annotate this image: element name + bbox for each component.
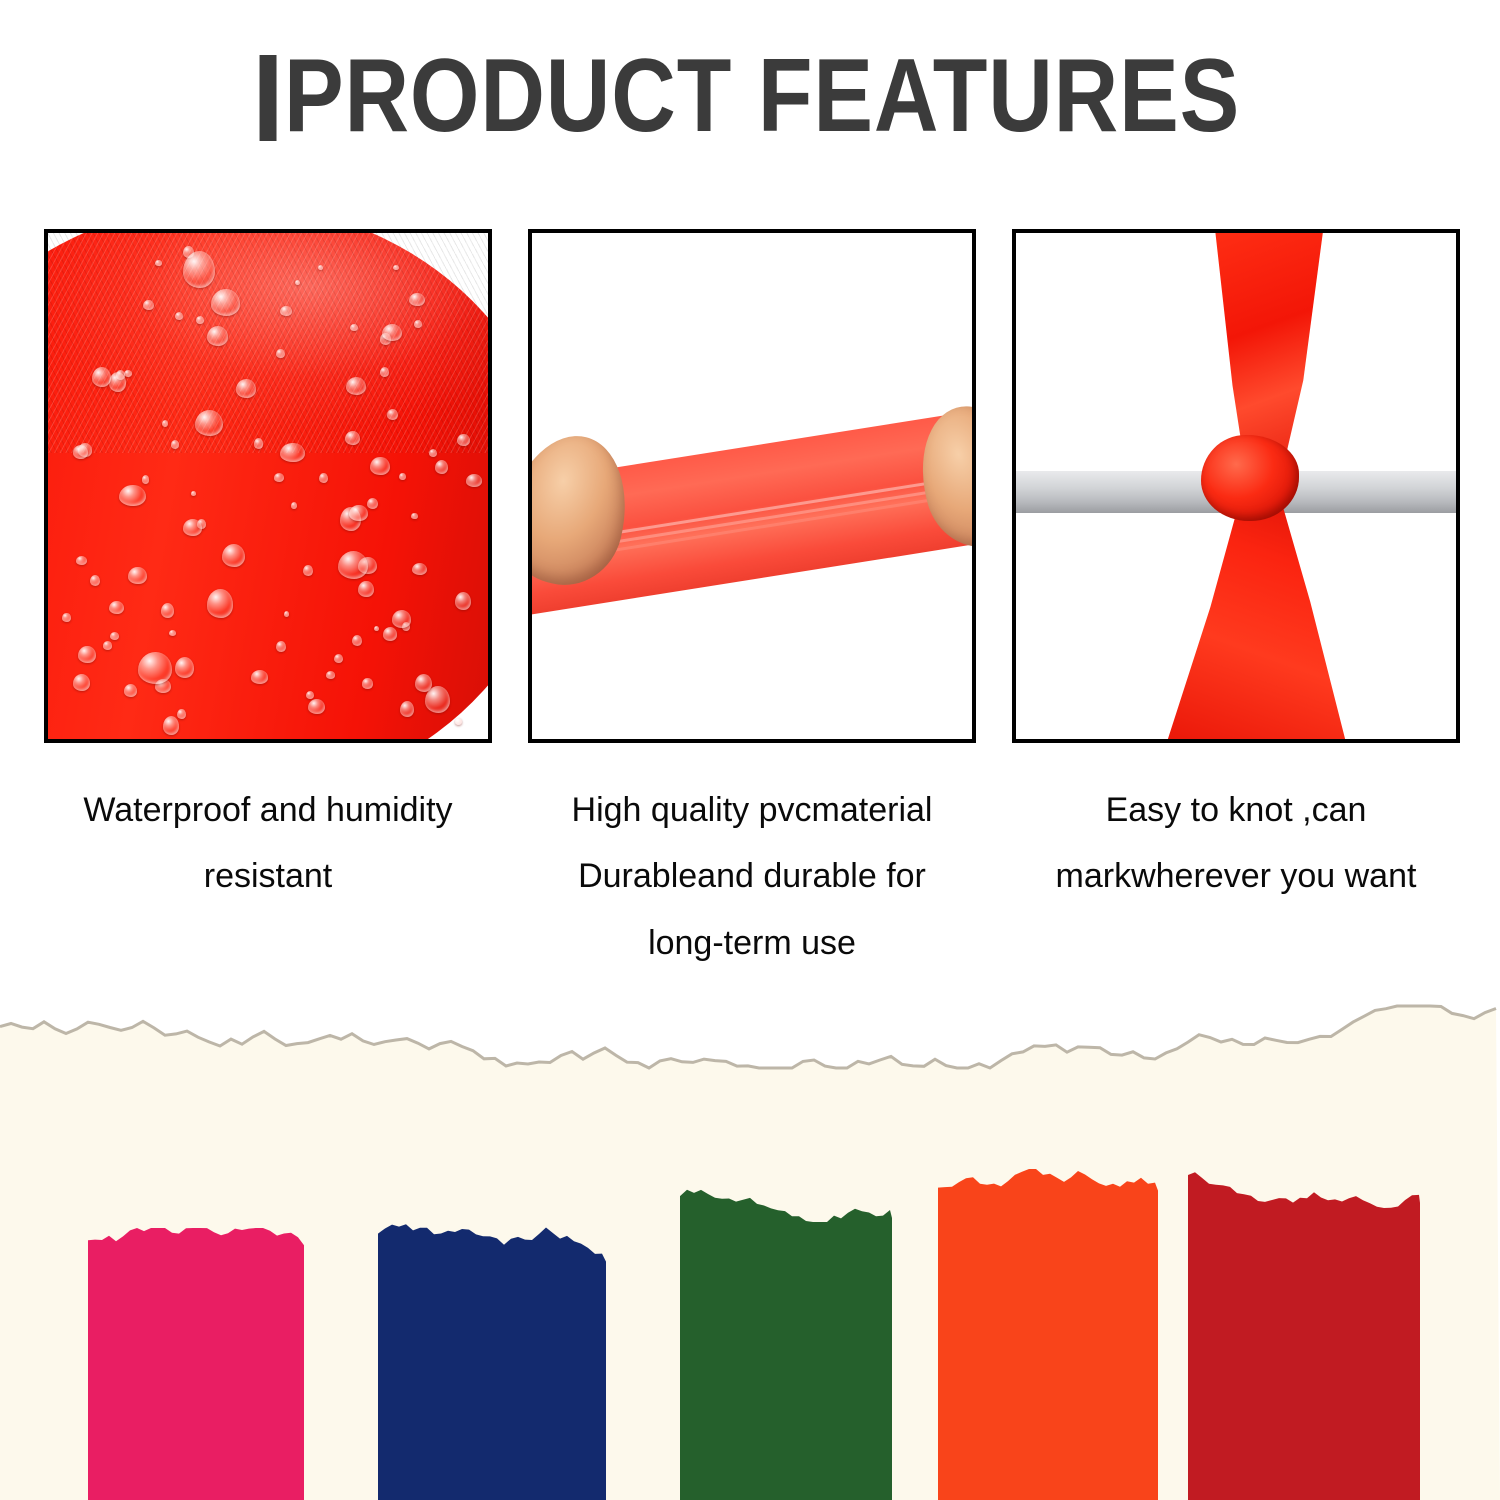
water-droplet (92, 367, 111, 387)
feature-panel-waterproof: Waterproof and humidity resistant (44, 229, 492, 976)
water-droplet (429, 449, 437, 457)
water-droplet (306, 691, 314, 699)
water-droplet (163, 716, 179, 735)
water-droplet (319, 473, 328, 483)
color-swatch-navy (378, 1224, 606, 1500)
water-droplet (73, 674, 91, 691)
water-droplet (411, 513, 417, 520)
feature-caption-1: Waterproof and humidity resistant (44, 777, 492, 910)
water-droplet (466, 474, 482, 487)
water-droplet (78, 646, 95, 663)
water-droplet (236, 379, 255, 398)
water-droplet (349, 505, 368, 522)
water-droplet (374, 626, 379, 632)
water-droplet (280, 443, 305, 463)
page-title: PRODUCT FEATURES (260, 44, 1239, 148)
red-tape-roll-with-water-droplets-photo (48, 233, 488, 739)
color-swatch-section (0, 990, 1500, 1500)
ribbon-tail-lower (1148, 486, 1356, 739)
water-droplet (358, 581, 373, 597)
water-droplet (191, 491, 196, 496)
water-droplet (414, 320, 422, 327)
water-droplet (138, 652, 172, 684)
water-droplet (110, 632, 119, 640)
tape-weave-texture (48, 233, 488, 453)
feature-photo-frame-3 (1012, 229, 1460, 743)
water-droplet (274, 473, 284, 482)
water-droplet (409, 293, 425, 306)
caption-line: resistant (44, 843, 492, 909)
water-droplet (162, 420, 168, 427)
water-droplet (183, 251, 215, 288)
color-swatch-pink (88, 1228, 304, 1500)
fingers-stretching-red-pvc-tape-photo (532, 233, 972, 739)
water-droplet (124, 684, 138, 697)
water-droplet (128, 567, 146, 584)
water-droplet (291, 502, 297, 509)
water-droplet (76, 556, 87, 565)
caption-line: High quality pvcmaterial (528, 777, 976, 843)
water-droplet (211, 289, 240, 315)
water-droplet (207, 589, 234, 617)
water-droplet (183, 519, 202, 536)
color-swatch-red (1188, 1172, 1420, 1500)
water-droplet (326, 671, 335, 678)
feature-caption-3: Easy to knot ,can markwherever you want (1012, 777, 1460, 910)
water-droplet (367, 498, 378, 509)
water-droplet (171, 440, 180, 449)
water-droplet (380, 367, 390, 377)
water-droplet (195, 410, 223, 436)
caption-line: markwherever you want (1012, 843, 1460, 909)
water-droplet (222, 544, 245, 567)
water-droplet (457, 434, 470, 447)
water-droplet (143, 300, 153, 310)
feature-panels-row: Waterproof and humidity resistant High q… (44, 229, 1460, 976)
water-droplet (345, 431, 360, 445)
water-droplet (62, 613, 70, 622)
water-droplet (251, 670, 268, 684)
color-swatch-orange (938, 1169, 1158, 1500)
water-droplet (387, 409, 398, 420)
water-droplet (455, 718, 462, 725)
water-droplet (254, 438, 263, 448)
water-droplet (196, 316, 204, 324)
title-accent-bar (259, 55, 276, 141)
tape-knot (1201, 435, 1299, 521)
page-title-text: PRODUCT FEATURES (284, 38, 1240, 154)
red-tape-knotted-around-gray-pole-photo (1016, 233, 1456, 739)
water-droplet (383, 627, 398, 641)
water-droplet (338, 551, 368, 579)
caption-line: Waterproof and humidity (44, 777, 492, 843)
product-features-infographic: PRODUCT FEATURES Waterproof and humidity… (0, 0, 1500, 1500)
water-droplet (334, 654, 343, 663)
feature-panel-pvc-material: High quality pvcmaterial Durableand dura… (528, 229, 976, 976)
water-droplet (346, 377, 366, 395)
page-title-container: PRODUCT FEATURES (0, 44, 1500, 148)
water-droplet (109, 372, 126, 392)
water-droplet (276, 641, 286, 652)
water-droplet (455, 592, 471, 610)
water-droplet (352, 635, 362, 646)
water-droplet (175, 657, 194, 678)
feature-photo-frame-2 (528, 229, 976, 743)
feature-caption-2: High quality pvcmaterial Durableand dura… (528, 777, 976, 976)
water-droplet (119, 485, 146, 507)
water-droplet (362, 678, 373, 688)
caption-line: Easy to knot ,can (1012, 777, 1460, 843)
water-droplet (350, 324, 358, 332)
water-droplet (392, 610, 412, 628)
water-droplet (435, 460, 448, 474)
tape-roll-shape (48, 233, 488, 739)
color-swatches-group (0, 990, 1500, 1500)
water-droplet (103, 641, 112, 649)
water-droplet (155, 260, 162, 267)
water-droplet (393, 265, 399, 270)
water-droplet (280, 306, 292, 316)
caption-line: Durableand durable for (528, 843, 976, 909)
water-droplet (415, 674, 432, 692)
water-droplet (142, 475, 149, 483)
water-droplet (370, 457, 389, 476)
water-droplet (109, 601, 124, 614)
water-droplet (412, 563, 427, 575)
water-droplet (382, 324, 402, 341)
feature-panel-easy-to-knot: Easy to knot ,can markwherever you want (1012, 229, 1460, 976)
water-droplet (73, 445, 89, 459)
color-swatch-green (680, 1190, 892, 1500)
water-droplet (276, 349, 284, 358)
caption-line: long-term use (528, 910, 976, 976)
water-droplet (303, 565, 313, 576)
water-droplet (177, 709, 186, 719)
water-droplet (207, 326, 228, 346)
water-droplet (399, 473, 406, 480)
feature-photo-frame-1 (44, 229, 492, 743)
water-droplet (308, 699, 325, 714)
